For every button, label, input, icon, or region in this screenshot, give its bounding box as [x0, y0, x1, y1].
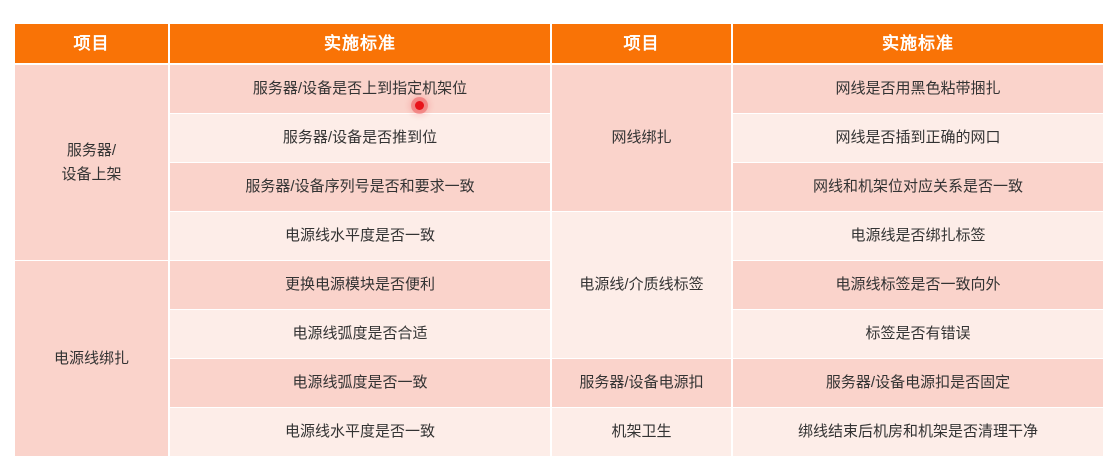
standard-cell: 电源线水平度是否一致	[169, 408, 551, 457]
group-label-line: 服务器/设备电源扣	[579, 374, 703, 391]
standard-cell: 网线和机架位对应关系是否一致	[732, 163, 1103, 212]
table-row: 电源线水平度是否一致 机架卫生 绑线结束后机房和机架是否清理干净	[15, 408, 1103, 457]
standard-cell: 标签是否有错误	[732, 310, 1103, 359]
standard-cell: 服务器/设备电源扣是否固定	[732, 359, 1103, 408]
checklist-sheet: 项目 实施标准 项目 实施标准 服务器/ 设备上架 服务器/设备是否上到指定机架…	[15, 24, 1103, 448]
standard-cell: 更换电源模块是否便利	[169, 261, 551, 310]
standard-cell: 服务器/设备是否上到指定机架位	[169, 64, 551, 114]
group-label-line: 机架卫生	[611, 423, 671, 440]
table-body: 服务器/ 设备上架 服务器/设备是否上到指定机架位 网线绑扎 网线是否用黑色粘带…	[15, 64, 1103, 456]
group-cell-power-media-label: 电源线/介质线标签	[551, 212, 732, 359]
header-row: 项目 实施标准 项目 实施标准	[15, 24, 1103, 64]
standard-cell: 网线是否用黑色粘带捆扎	[732, 64, 1103, 114]
group-cell-server-rack: 服务器/ 设备上架	[15, 64, 169, 261]
column-header-standard-right: 实施标准	[732, 24, 1103, 64]
table-row: 电源线弧度是否一致 服务器/设备电源扣 服务器/设备电源扣是否固定	[15, 359, 1103, 408]
standard-cell: 电源线弧度是否合适	[169, 310, 551, 359]
group-label-line: 服务器/	[21, 139, 162, 162]
standard-cell: 电源线标签是否一致向外	[732, 261, 1103, 310]
standard-cell: 服务器/设备是否推到位	[169, 114, 551, 163]
standard-cell: 网线是否插到正确的网口	[732, 114, 1103, 163]
table-row: 服务器/ 设备上架 服务器/设备是否上到指定机架位 网线绑扎 网线是否用黑色粘带…	[15, 64, 1103, 114]
group-label-line: 电源线绑扎	[21, 347, 162, 370]
group-label-line: 网线绑扎	[558, 126, 725, 149]
group-cell-device-power-clip: 服务器/设备电源扣	[551, 359, 732, 408]
column-header-project-left: 项目	[15, 24, 169, 64]
table-row: 电源线水平度是否一致 电源线/介质线标签 电源线是否绑扎标签	[15, 212, 1103, 261]
column-header-standard-left: 实施标准	[169, 24, 551, 64]
group-cell-power-cable-binding: 电源线绑扎	[15, 261, 169, 457]
group-label-line: 电源线/介质线标签	[579, 276, 703, 293]
standard-cell: 电源线水平度是否一致	[169, 212, 551, 261]
group-label-line: 设备上架	[21, 163, 162, 186]
standard-cell: 服务器/设备序列号是否和要求一致	[169, 163, 551, 212]
group-cell-network-cable-binding: 网线绑扎	[551, 64, 732, 212]
implementation-standard-table: 项目 实施标准 项目 实施标准 服务器/ 设备上架 服务器/设备是否上到指定机架…	[15, 24, 1103, 457]
column-header-project-right: 项目	[551, 24, 732, 64]
standard-cell: 绑线结束后机房和机架是否清理干净	[732, 408, 1103, 457]
standard-cell: 电源线是否绑扎标签	[732, 212, 1103, 261]
standard-cell: 电源线弧度是否一致	[169, 359, 551, 408]
group-cell-rack-hygiene: 机架卫生	[551, 408, 732, 457]
table-header: 项目 实施标准 项目 实施标准	[15, 24, 1103, 64]
